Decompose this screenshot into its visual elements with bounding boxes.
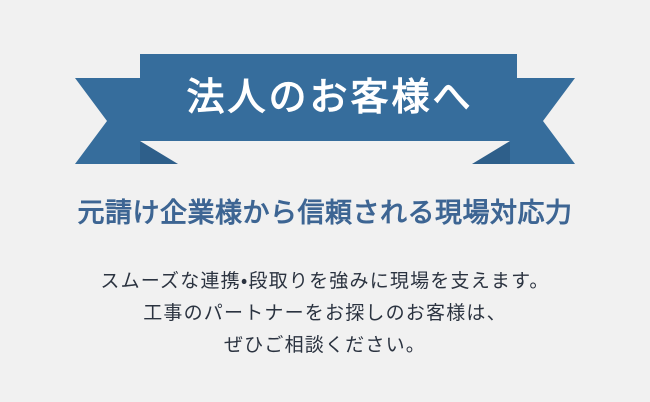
body-line: スムーズな連携・段取りを強みに現場を支えます。 xyxy=(0,266,650,298)
page-heading: 元請け企業様から信頼される現場対応力 xyxy=(0,196,650,231)
body-line: 工事のパートナーをお探しのお客様は、 xyxy=(0,298,650,330)
corporate-customers-banner: 法人のお客様へ 元請け企業様から信頼される現場対応力 スムーズな連携・段取りを強… xyxy=(0,0,650,402)
ribbon-banner: 法人のお客様へ xyxy=(0,0,650,180)
body-copy: スムーズな連携・段取りを強みに現場を支えます。 工事のパートナーをお探しのお客様… xyxy=(0,266,650,362)
ribbon-title: 法人のお客様へ xyxy=(140,54,517,141)
body-line: ぜひご相談ください。 xyxy=(0,330,650,362)
